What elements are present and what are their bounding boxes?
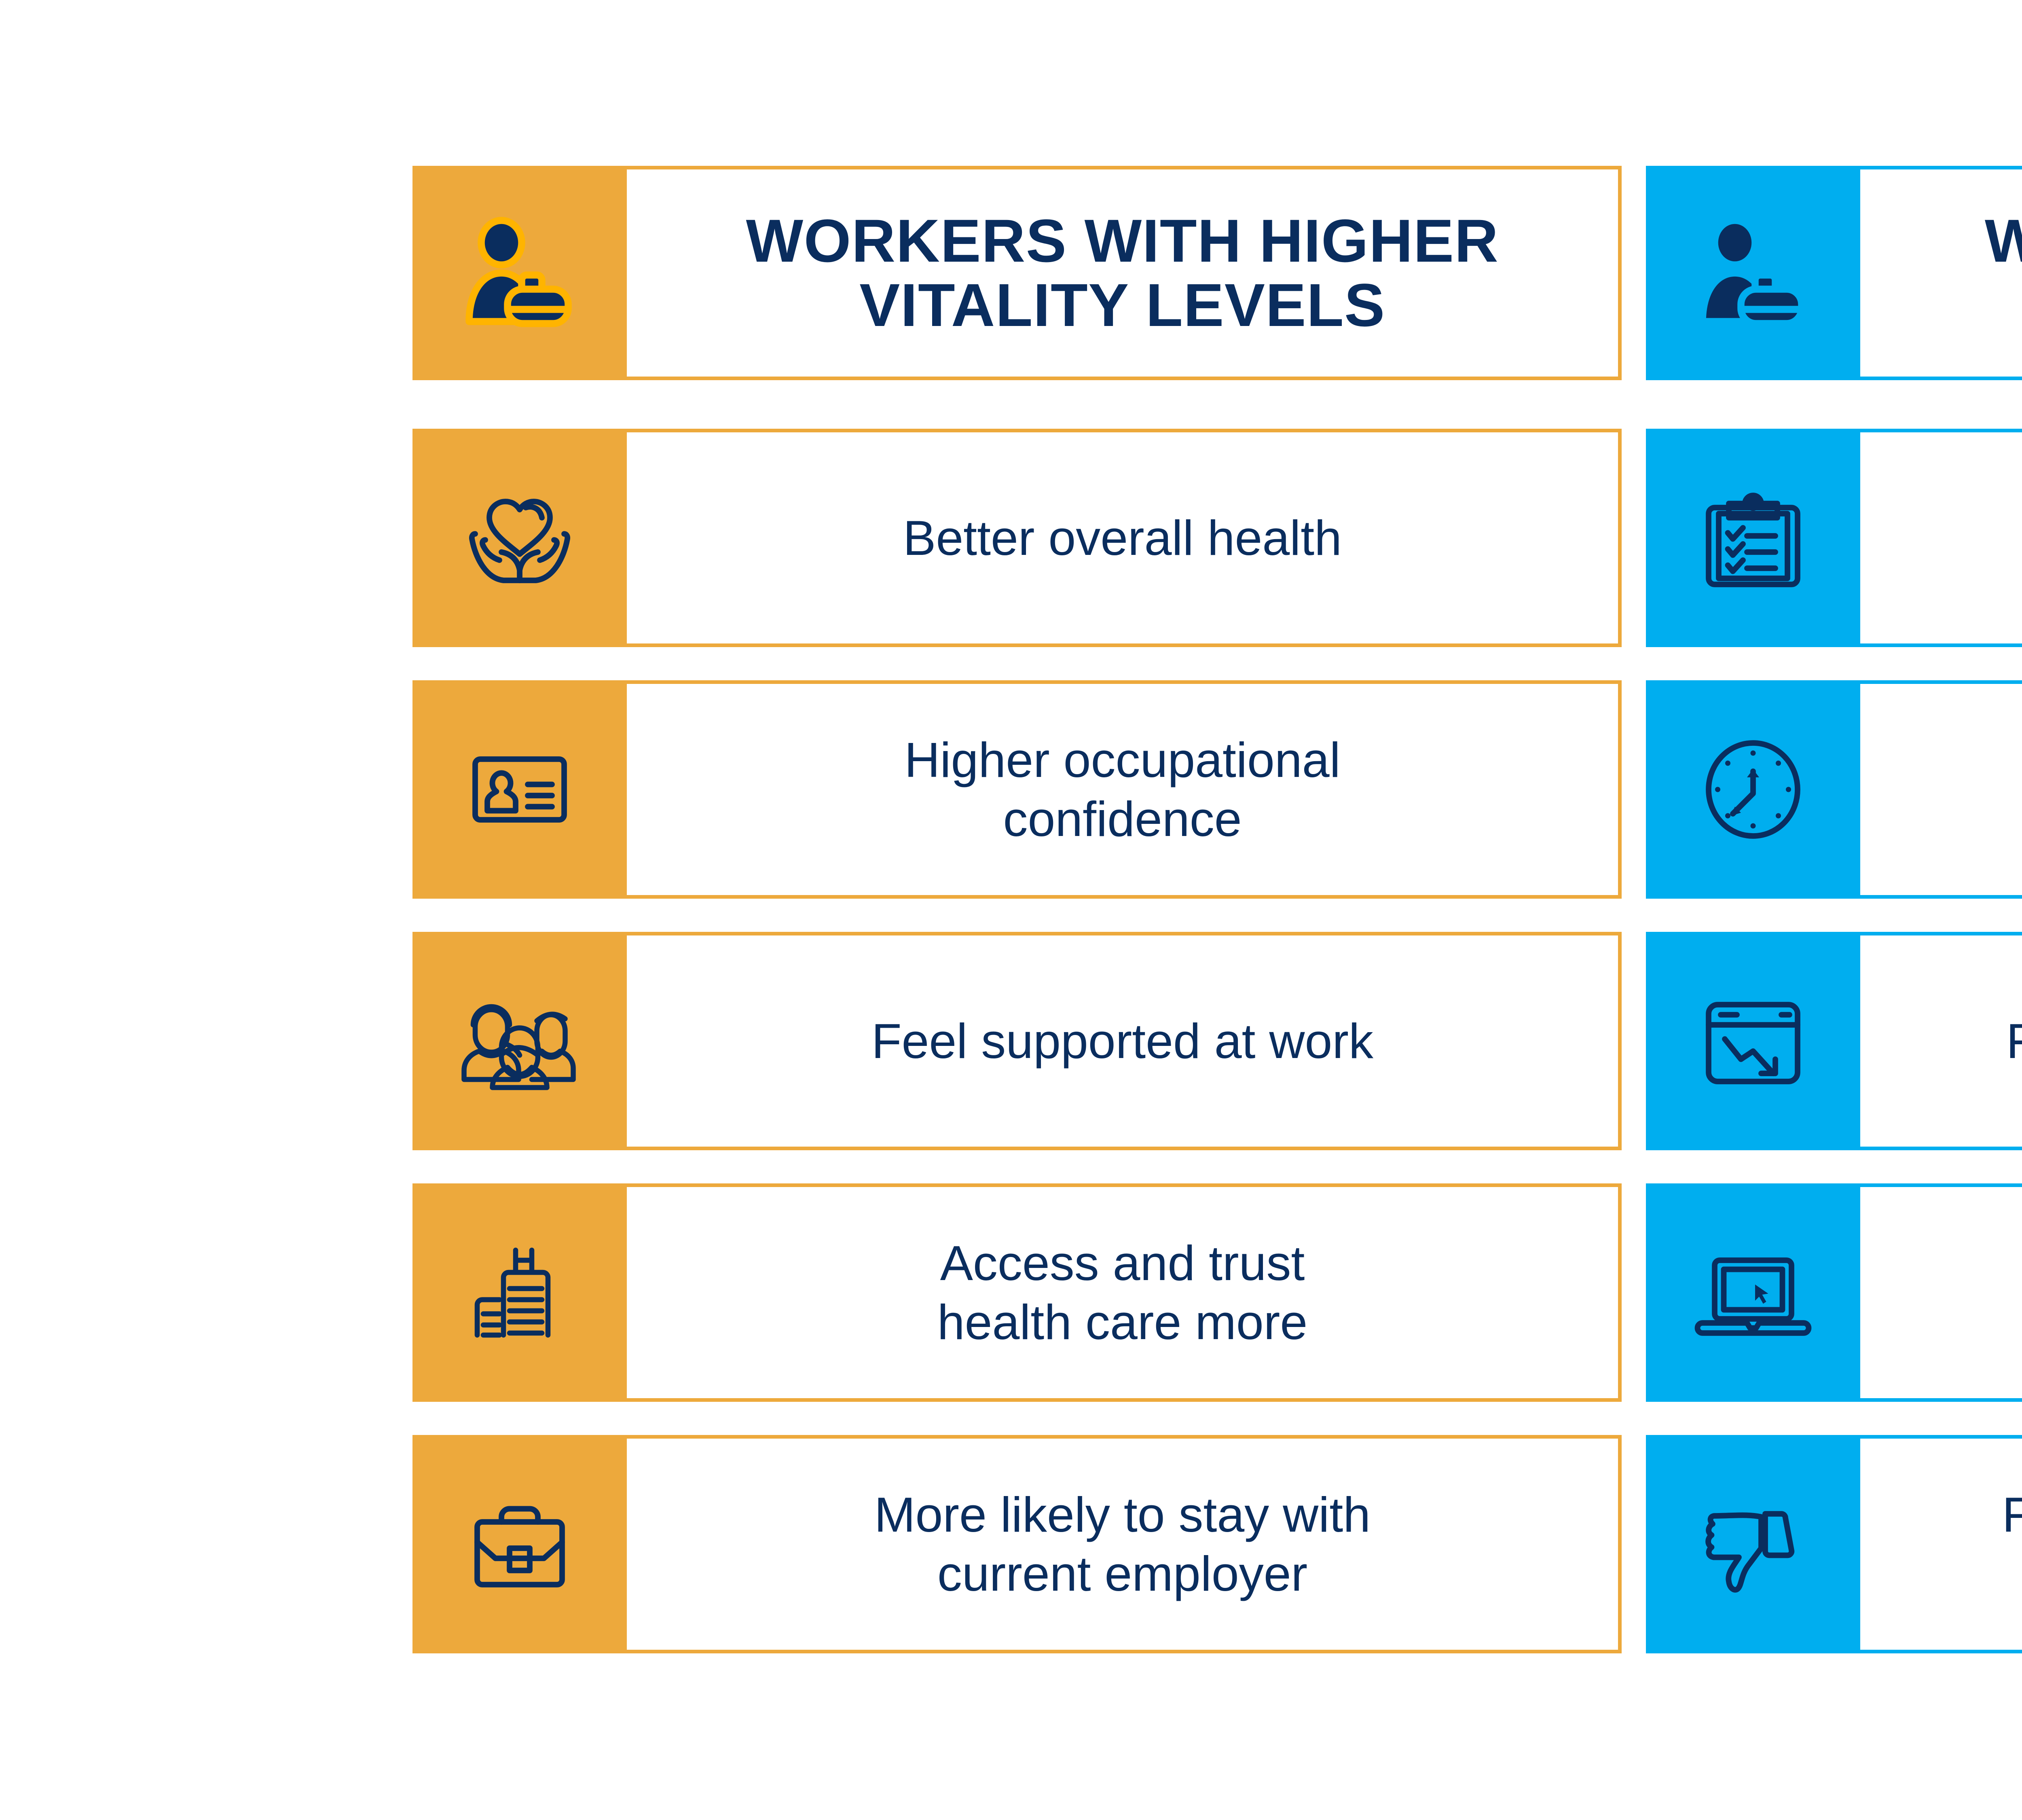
text-cell: Better overall health: [627, 429, 1622, 647]
icon-cell: [412, 1435, 627, 1653]
list-item: Demonstrate higher absenteeism and turno…: [1646, 680, 2022, 899]
clipboard-checklist-icon: [1692, 477, 1814, 599]
text-cell: Higher occupational confidence: [627, 680, 1622, 899]
list-item: Higher occupational confidence: [412, 680, 1622, 899]
page-title-lower: WORKERS WITH LOWER VITALITY LEVELS: [1985, 209, 2022, 337]
list-item-label: Feel less satisfied with their jobs over…: [2002, 1485, 2022, 1604]
header-row-higher: WORKERS WITH HIGHER VITALITY LEVELS: [412, 166, 1622, 380]
clock-icon: [1692, 729, 1814, 850]
list-item: Access and trust health care more: [412, 1183, 1622, 1402]
column-higher-vitality: WORKERS WITH HIGHER VITALITY LEVELS: [412, 166, 1622, 1687]
list-item-label: Higher occupational confidence: [904, 730, 1340, 849]
header-text-cell-higher: WORKERS WITH HIGHER VITALITY LEVELS: [627, 166, 1622, 380]
icon-cell: [412, 932, 627, 1150]
id-badge-icon: [459, 729, 580, 850]
list-item: More likely to stay with current employe…: [412, 1435, 1622, 1653]
list-item: Struggle to manage their health: [1646, 429, 2022, 647]
list-item-label: Access and trust health care more: [937, 1234, 1307, 1352]
list-item: Are less productive at work: [1646, 1183, 2022, 1402]
list-item: Feel less competent in their role: [1646, 932, 2022, 1150]
header-row-lower: WORKERS WITH LOWER VITALITY LEVELS: [1646, 166, 2022, 380]
text-cell: Access and trust health care more: [627, 1183, 1622, 1402]
vitality-comparison-infographic: WORKERS WITH HIGHER VITALITY LEVELS: [0, 0, 2022, 1820]
heart-in-hands-icon: [459, 477, 580, 599]
declining-chart-window-icon: [1692, 980, 1814, 1102]
header-text-cell-lower: WORKERS WITH LOWER VITALITY LEVELS: [1860, 166, 2022, 380]
text-cell: More likely to stay with current employe…: [627, 1435, 1622, 1653]
icon-cell: [412, 1183, 627, 1402]
list-item: Better overall health: [412, 429, 1622, 647]
group-of-people-icon: [459, 980, 580, 1102]
icon-cell: [412, 680, 627, 899]
header-icon-cell-higher: [412, 166, 627, 380]
icon-cell: [1646, 932, 1860, 1150]
hospital-building-icon: [459, 1232, 580, 1353]
text-cell: Feel less satisfied with their jobs over…: [1860, 1435, 2022, 1653]
text-cell: Feel supported at work: [627, 932, 1622, 1150]
icon-cell: [1646, 1183, 1860, 1402]
list-item-label: Feel supported at work: [871, 1012, 1373, 1071]
list-item: Feel less satisfied with their jobs over…: [1646, 1435, 2022, 1653]
text-cell: Demonstrate higher absenteeism and turno…: [1860, 680, 2022, 899]
list-item-label: Better overall health: [903, 508, 1342, 567]
text-cell: Struggle to manage their health: [1860, 429, 2022, 647]
laptop-cursor-icon: [1692, 1232, 1814, 1353]
person-with-briefcase-icon: [1692, 212, 1814, 334]
page-title-higher: WORKERS WITH HIGHER VITALITY LEVELS: [746, 209, 1499, 337]
person-with-briefcase-icon: [459, 212, 580, 334]
list-item-label: More likely to stay with current employe…: [874, 1485, 1371, 1604]
icon-cell: [1646, 429, 1860, 647]
text-cell: Feel less competent in their role: [1860, 932, 2022, 1150]
briefcase-icon: [459, 1484, 580, 1605]
icon-cell: [1646, 680, 1860, 899]
header-icon-cell-lower: [1646, 166, 1860, 380]
icon-cell: [412, 429, 627, 647]
list-item: Feel supported at work: [412, 932, 1622, 1150]
icon-cell: [1646, 1435, 1860, 1653]
thumbs-down-icon: [1692, 1484, 1814, 1605]
text-cell: Are less productive at work: [1860, 1183, 2022, 1402]
column-lower-vitality: WORKERS WITH LOWER VITALITY LEVELS: [1646, 166, 2022, 1687]
list-item-label: Feel less competent in their role: [2006, 1012, 2022, 1071]
